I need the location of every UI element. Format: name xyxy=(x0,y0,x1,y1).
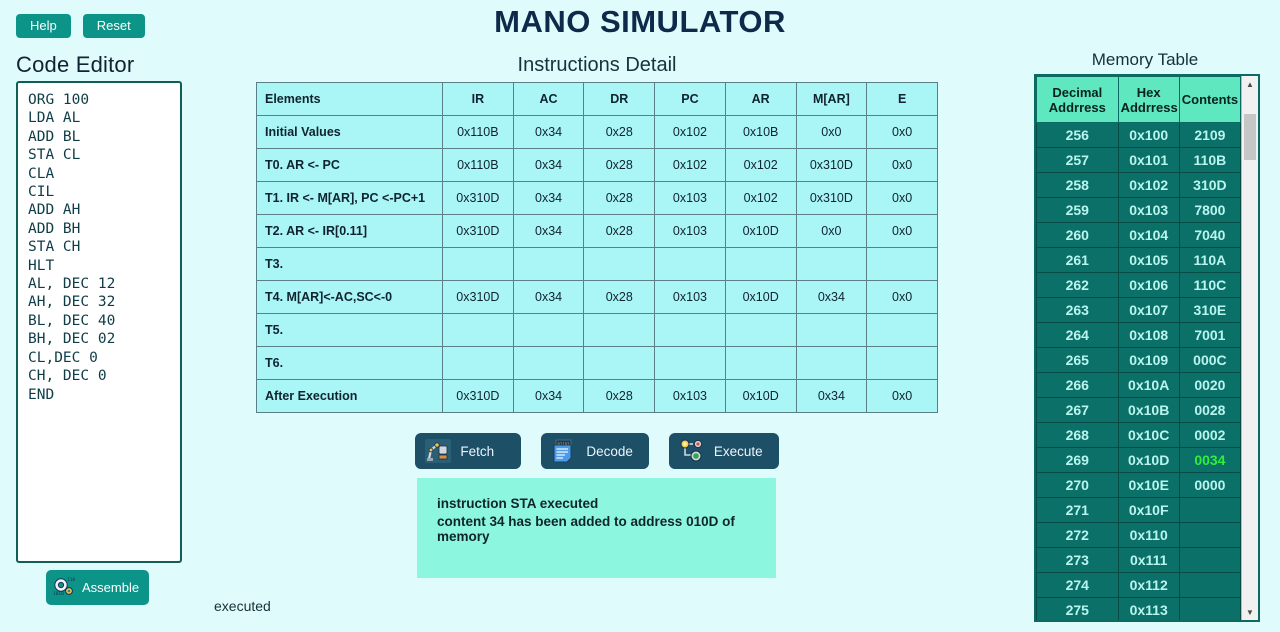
memory-decimal-address: 275 xyxy=(1037,598,1119,621)
table-cell: 0x103 xyxy=(655,215,726,248)
table-cell xyxy=(725,347,796,380)
table-cell: 0x102 xyxy=(655,149,726,182)
table-row: T4. M[AR]<-AC,SC<-00x310D0x340x280x1030x… xyxy=(257,281,938,314)
memory-contents: 310E xyxy=(1179,298,1240,323)
table-cell: 0x0 xyxy=(796,215,867,248)
table-cell xyxy=(584,248,655,281)
table-row: T1. IR <- M[AR], PC <-PC+10x310D0x340x28… xyxy=(257,182,938,215)
memory-hex-address: 0x10A xyxy=(1118,373,1179,398)
memory-hex-address: 0x10D xyxy=(1118,448,1179,473)
table-cell xyxy=(796,347,867,380)
execute-button[interactable]: Execute xyxy=(669,433,779,469)
page-title: MANO SIMULATOR xyxy=(0,4,1280,40)
table-cell xyxy=(867,314,938,347)
flowchart-icon xyxy=(679,439,705,463)
table-cell xyxy=(796,248,867,281)
memory-hex-address: 0x10E xyxy=(1118,473,1179,498)
memory-hex-address: 0x105 xyxy=(1118,248,1179,273)
memory-contents xyxy=(1179,498,1240,523)
memory-row: 2690x10D0034 xyxy=(1037,448,1241,473)
instructions-col-header: AC xyxy=(513,83,584,116)
app-root: Help Reset MANO SIMULATOR Instructions D… xyxy=(0,0,1280,632)
gear-icon: 110 1010 xyxy=(52,575,76,600)
message-box: instruction STA executed content 34 has … xyxy=(417,478,776,578)
table-cell xyxy=(443,347,514,380)
table-cell xyxy=(443,248,514,281)
memory-contents: 7001 xyxy=(1179,323,1240,348)
table-cell: T4. M[AR]<-AC,SC<-0 xyxy=(257,281,443,314)
memory-hex-address: 0x100 xyxy=(1118,123,1179,148)
memory-row: 2710x10F xyxy=(1037,498,1241,523)
memory-row: 2740x112 xyxy=(1037,573,1241,598)
table-cell: After Execution xyxy=(257,380,443,413)
memory-decimal-address: 274 xyxy=(1037,573,1119,598)
table-cell: 0x28 xyxy=(584,116,655,149)
memory-hex-address: 0x10B xyxy=(1118,398,1179,423)
table-cell xyxy=(655,248,726,281)
memory-contents xyxy=(1179,548,1240,573)
memory-row: 2570x101110B xyxy=(1037,148,1241,173)
assembler-status: executed xyxy=(214,598,271,614)
table-cell: 0x310D xyxy=(443,380,514,413)
instructions-col-header: M[AR] xyxy=(796,83,867,116)
memory-table-scroll-area: Decimal AddrressHex AddrressContents 256… xyxy=(1036,76,1241,620)
memory-row: 2580x102310D xyxy=(1037,173,1241,198)
instructions-col-header: E xyxy=(867,83,938,116)
memory-contents: 110B xyxy=(1179,148,1240,173)
table-cell: T0. AR <- PC xyxy=(257,149,443,182)
scroll-down-icon[interactable]: ▼ xyxy=(1242,604,1258,620)
memory-row: 2590x1037800 xyxy=(1037,198,1241,223)
memory-contents: 0028 xyxy=(1179,398,1240,423)
table-cell: 0x310D xyxy=(796,182,867,215)
code-editor-text[interactable]: ORG 100 LDA AL ADD BL STA CL CLA CIL ADD… xyxy=(28,91,170,404)
table-cell xyxy=(796,314,867,347)
code-editor[interactable]: ORG 100 LDA AL ADD BL STA CL CLA CIL ADD… xyxy=(16,81,182,563)
memory-hex-address: 0x112 xyxy=(1118,573,1179,598)
table-cell: T5. xyxy=(257,314,443,347)
memory-decimal-address: 257 xyxy=(1037,148,1119,173)
memory-row: 2610x105110A xyxy=(1037,248,1241,273)
table-cell: 0x28 xyxy=(584,149,655,182)
table-cell: 0x28 xyxy=(584,380,655,413)
memory-decimal-address: 268 xyxy=(1037,423,1119,448)
instructions-col-header: DR xyxy=(584,83,655,116)
table-cell: 0x310D xyxy=(796,149,867,182)
memory-hex-address: 0x113 xyxy=(1118,598,1179,621)
memory-row: 2670x10B0028 xyxy=(1037,398,1241,423)
instructions-col-header: Elements xyxy=(257,83,443,116)
memory-decimal-address: 256 xyxy=(1037,123,1119,148)
memory-row: 2600x1047040 xyxy=(1037,223,1241,248)
table-row: Initial Values0x110B0x340x280x1020x10B0x… xyxy=(257,116,938,149)
memory-hex-address: 0x106 xyxy=(1118,273,1179,298)
memory-decimal-address: 270 xyxy=(1037,473,1119,498)
memory-decimal-address: 273 xyxy=(1037,548,1119,573)
memory-contents: 0020 xyxy=(1179,373,1240,398)
instructions-col-header: PC xyxy=(655,83,726,116)
scrollbar-thumb[interactable] xyxy=(1244,114,1256,160)
table-cell xyxy=(867,248,938,281)
memory-hex-address: 0x103 xyxy=(1118,198,1179,223)
memory-contents: 7040 xyxy=(1179,223,1240,248)
memory-row: 2730x111 xyxy=(1037,548,1241,573)
memory-hex-address: 0x109 xyxy=(1118,348,1179,373)
memory-hex-address: 0x104 xyxy=(1118,223,1179,248)
table-cell xyxy=(513,347,584,380)
memory-row: 2630x107310E xyxy=(1037,298,1241,323)
table-row: T3. xyxy=(257,248,938,281)
table-cell: 0x10D xyxy=(725,281,796,314)
assemble-button[interactable]: 110 1010 Assemble xyxy=(46,570,149,605)
memory-row: 2750x113 xyxy=(1037,598,1241,621)
table-cell: 0x34 xyxy=(513,281,584,314)
memory-row: 2680x10C0002 xyxy=(1037,423,1241,448)
table-cell: 0x28 xyxy=(584,281,655,314)
table-cell: T1. IR <- M[AR], PC <-PC+1 xyxy=(257,182,443,215)
memory-contents xyxy=(1179,598,1240,621)
table-cell: 0x0 xyxy=(867,149,938,182)
memory-hex-address: 0x110 xyxy=(1118,523,1179,548)
table-cell: 0x34 xyxy=(513,182,584,215)
table-cell: T2. AR <- IR[0.11] xyxy=(257,215,443,248)
instructions-table-wrap: ElementsIRACDRPCARM[AR]E Initial Values0… xyxy=(256,82,938,413)
memory-decimal-address: 265 xyxy=(1037,348,1119,373)
table-cell: 0x34 xyxy=(513,149,584,182)
table-cell: 0x34 xyxy=(513,380,584,413)
instructions-subtitle: Instructions Detail xyxy=(256,54,938,77)
memory-hex-address: 0x107 xyxy=(1118,298,1179,323)
memory-contents: 0000 xyxy=(1179,473,1240,498)
table-cell: 0x310D xyxy=(443,182,514,215)
table-row: T5. xyxy=(257,314,938,347)
table-header-row: ElementsIRACDRPCARM[AR]E xyxy=(257,83,938,116)
table-cell: 0x102 xyxy=(655,116,726,149)
instructions-col-header: IR xyxy=(443,83,514,116)
memory-hex-address: 0x10C xyxy=(1118,423,1179,448)
table-cell xyxy=(584,314,655,347)
memory-contents xyxy=(1179,523,1240,548)
memory-decimal-address: 266 xyxy=(1037,373,1119,398)
memory-contents xyxy=(1179,573,1240,598)
svg-text:1010: 1010 xyxy=(53,591,64,597)
memory-contents: 110A xyxy=(1179,248,1240,273)
table-cell: 0x0 xyxy=(867,182,938,215)
table-cell: T3. xyxy=(257,248,443,281)
memory-decimal-address: 263 xyxy=(1037,298,1119,323)
memory-contents: 310D xyxy=(1179,173,1240,198)
memory-contents: 0034 xyxy=(1179,448,1240,473)
memory-row: 2640x1087001 xyxy=(1037,323,1241,348)
fetch-button-label: Fetch xyxy=(460,444,494,459)
memory-decimal-address: 272 xyxy=(1037,523,1119,548)
memory-decimal-address: 262 xyxy=(1037,273,1119,298)
table-cell: 0x103 xyxy=(655,182,726,215)
memory-col-header: Contents xyxy=(1179,77,1240,123)
table-cell xyxy=(655,314,726,347)
memory-contents: 0002 xyxy=(1179,423,1240,448)
memory-scrollbar[interactable]: ▲ ▼ xyxy=(1241,76,1258,620)
memory-decimal-address: 271 xyxy=(1037,498,1119,523)
table-cell xyxy=(725,248,796,281)
memory-row: 2650x109000C xyxy=(1037,348,1241,373)
memory-decimal-address: 258 xyxy=(1037,173,1119,198)
table-cell xyxy=(584,347,655,380)
memory-col-header: Hex Addrress xyxy=(1118,77,1179,123)
table-cell: 0x102 xyxy=(725,182,796,215)
table-cell: 0x102 xyxy=(725,149,796,182)
table-cell: Initial Values xyxy=(257,116,443,149)
table-cell xyxy=(443,314,514,347)
table-cell xyxy=(725,314,796,347)
memory-hex-address: 0x108 xyxy=(1118,323,1179,348)
memory-row: 2560x1002109 xyxy=(1037,123,1241,148)
memory-table-frame: Decimal AddrressHex AddrressContents 256… xyxy=(1034,74,1260,622)
memory-col-header: Decimal Addrress xyxy=(1037,77,1119,123)
table-cell: 0x310D xyxy=(443,281,514,314)
table-cell xyxy=(513,248,584,281)
table-cell: 0x0 xyxy=(867,116,938,149)
action-buttons: Fetch 01101 Decode xyxy=(256,433,938,469)
message-line-1: instruction STA executed xyxy=(437,496,756,511)
memory-decimal-address: 260 xyxy=(1037,223,1119,248)
decode-button-label: Decode xyxy=(586,444,633,459)
memory-contents: 000C xyxy=(1179,348,1240,373)
memory-hex-address: 0x101 xyxy=(1118,148,1179,173)
memory-contents: 2109 xyxy=(1179,123,1240,148)
memory-contents: 7800 xyxy=(1179,198,1240,223)
table-cell: 0x110B xyxy=(443,116,514,149)
table-cell: 0x0 xyxy=(867,281,938,314)
memory-contents: 110C xyxy=(1179,273,1240,298)
memory-table: Decimal AddrressHex AddrressContents 256… xyxy=(1036,76,1241,620)
svg-text:110: 110 xyxy=(67,577,75,583)
table-row: T2. AR <- IR[0.11]0x310D0x340x280x1030x1… xyxy=(257,215,938,248)
scroll-up-icon[interactable]: ▲ xyxy=(1242,76,1258,92)
memory-row: 2700x10E0000 xyxy=(1037,473,1241,498)
table-cell: 0x34 xyxy=(513,215,584,248)
table-cell: 0x28 xyxy=(584,215,655,248)
instructions-col-header: AR xyxy=(725,83,796,116)
table-cell: 0x10B xyxy=(725,116,796,149)
table-cell xyxy=(655,347,726,380)
memory-row: 2660x10A0020 xyxy=(1037,373,1241,398)
decode-button[interactable]: 01101 Decode xyxy=(541,433,649,469)
table-cell: T6. xyxy=(257,347,443,380)
table-cell: 0x28 xyxy=(584,182,655,215)
table-cell: 0x34 xyxy=(796,380,867,413)
memory-decimal-address: 264 xyxy=(1037,323,1119,348)
message-line-2: content 34 has been added to address 010… xyxy=(437,514,756,544)
table-cell: 0x0 xyxy=(796,116,867,149)
table-cell xyxy=(513,314,584,347)
table-cell: 0x10D xyxy=(725,380,796,413)
memory-decimal-address: 269 xyxy=(1037,448,1119,473)
table-row: T0. AR <- PC0x110B0x340x280x1020x1020x31… xyxy=(257,149,938,182)
memory-header-row: Decimal AddrressHex AddrressContents xyxy=(1037,77,1241,123)
execute-button-label: Execute xyxy=(714,444,763,459)
code-editor-title: Code Editor xyxy=(16,52,134,78)
assemble-button-label: Assemble xyxy=(82,580,139,595)
memory-row: 2720x110 xyxy=(1037,523,1241,548)
table-cell: 0x110B xyxy=(443,149,514,182)
instructions-table: ElementsIRACDRPCARM[AR]E Initial Values0… xyxy=(256,82,938,413)
table-cell: 0x310D xyxy=(443,215,514,248)
memory-table-title: Memory Table xyxy=(1030,50,1260,70)
memory-hex-address: 0x111 xyxy=(1118,548,1179,573)
table-cell: 0x103 xyxy=(655,380,726,413)
table-cell: 0x0 xyxy=(867,380,938,413)
robot-arm-icon xyxy=(425,439,451,463)
table-cell: 0x34 xyxy=(796,281,867,314)
table-cell: 0x0 xyxy=(867,215,938,248)
memory-hex-address: 0x10F xyxy=(1118,498,1179,523)
memory-decimal-address: 267 xyxy=(1037,398,1119,423)
memory-decimal-address: 261 xyxy=(1037,248,1119,273)
table-cell: 0x103 xyxy=(655,281,726,314)
memory-row: 2620x106110C xyxy=(1037,273,1241,298)
memory-decimal-address: 259 xyxy=(1037,198,1119,223)
fetch-button[interactable]: Fetch xyxy=(415,433,521,469)
table-row: After Execution0x310D0x340x280x1030x10D0… xyxy=(257,380,938,413)
table-cell xyxy=(867,347,938,380)
document-icon: 01101 xyxy=(551,439,577,463)
table-row: T6. xyxy=(257,347,938,380)
memory-hex-address: 0x102 xyxy=(1118,173,1179,198)
table-cell: 0x10D xyxy=(725,215,796,248)
table-cell: 0x34 xyxy=(513,116,584,149)
